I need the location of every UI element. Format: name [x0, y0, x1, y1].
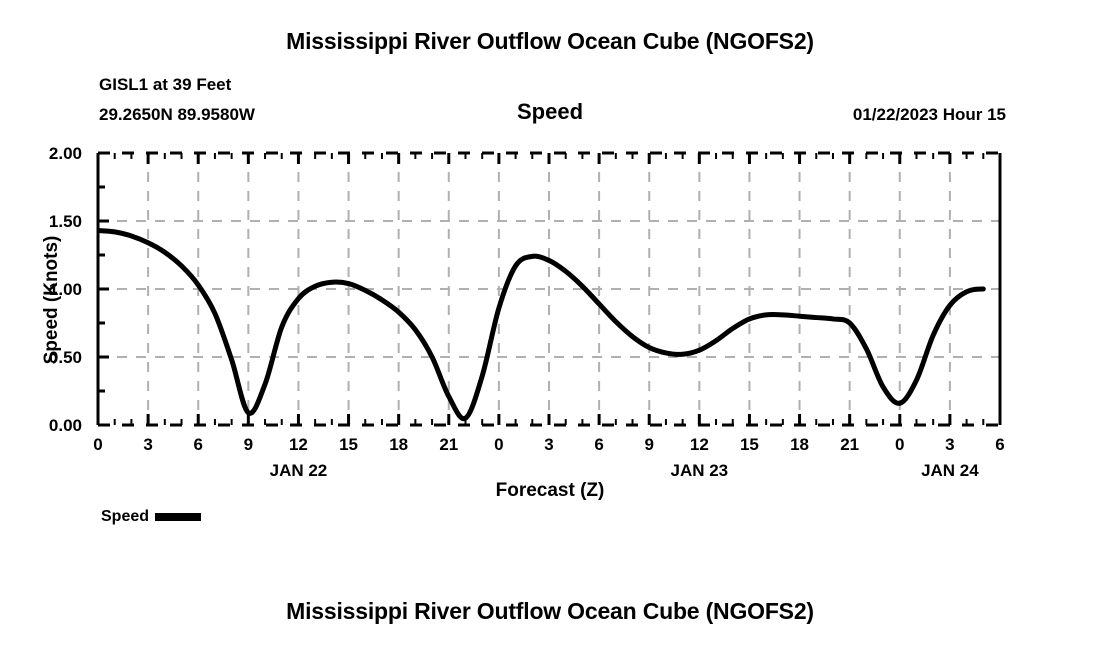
x-tick-label: 15: [339, 435, 358, 454]
gridlines: [98, 153, 1000, 425]
chart-legend: Speed: [101, 508, 201, 526]
y-axis-title: Speed (Knots): [41, 200, 63, 400]
footer-title: Mississippi River Outflow Ocean Cube (NG…: [0, 598, 1100, 625]
x-axis-day-labels: JAN 22JAN 23JAN 24: [270, 461, 980, 480]
x-axis-tick-labels: 036912151821036912151821036: [93, 435, 1004, 454]
x-tick-label: 9: [644, 435, 653, 454]
x-tick-label: 12: [289, 435, 308, 454]
x-tick-label: 21: [840, 435, 859, 454]
x-tick-label: 6: [594, 435, 603, 454]
x-tick-label: 18: [790, 435, 809, 454]
day-label: JAN 22: [270, 461, 328, 480]
x-tick-label: 0: [895, 435, 904, 454]
legend-color-swatch: [155, 513, 201, 521]
x-tick-label: 12: [690, 435, 709, 454]
x-tick-label: 6: [193, 435, 202, 454]
day-label: JAN 24: [921, 461, 979, 480]
y-tick-label: 2.00: [49, 144, 82, 163]
x-tick-label: 6: [995, 435, 1004, 454]
chart-page: Mississippi River Outflow Ocean Cube (NG…: [0, 0, 1100, 650]
x-tick-label: 15: [740, 435, 759, 454]
x-tick-label: 9: [244, 435, 253, 454]
x-tick-label: 3: [143, 435, 152, 454]
day-label: JAN 23: [671, 461, 729, 480]
x-tick-label: 21: [439, 435, 458, 454]
x-axis-title: Forecast (Z): [0, 480, 1100, 502]
x-tick-label: 18: [389, 435, 408, 454]
x-tick-label: 3: [945, 435, 954, 454]
x-tick-label: 0: [494, 435, 503, 454]
legend-label: Speed: [101, 508, 149, 526]
x-tick-label: 0: [93, 435, 102, 454]
plot-area: 0.000.501.001.502.00 0369121518210369121…: [0, 0, 1100, 650]
y-tick-label: 0.00: [49, 416, 82, 435]
speed-line-chart: 0.000.501.001.502.00 0369121518210369121…: [0, 0, 1100, 650]
x-tick-label: 3: [544, 435, 553, 454]
